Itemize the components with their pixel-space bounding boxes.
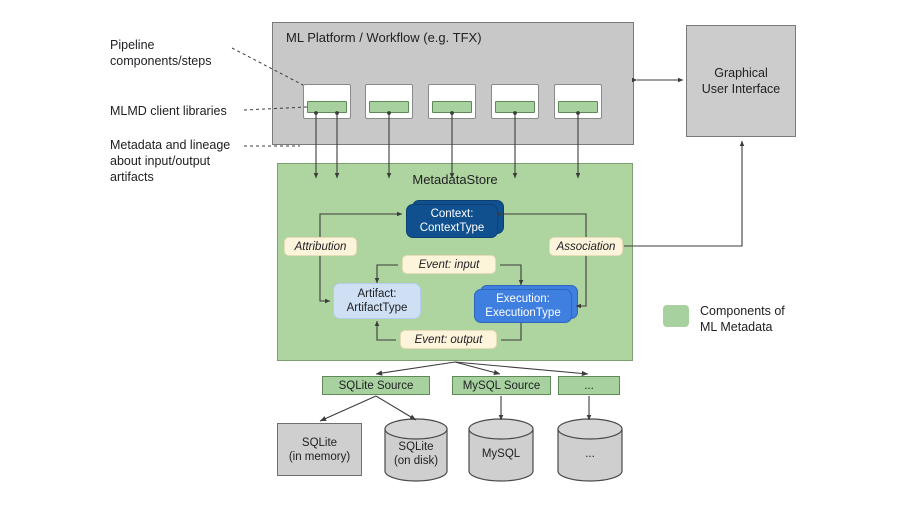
annotation-pipeline-components: Pipeline components/steps bbox=[110, 37, 270, 69]
event-output-tag[interactable]: Event: output bbox=[400, 330, 497, 349]
arrow-store-mysql-source bbox=[455, 362, 500, 374]
mlmd-client-library-2[interactable] bbox=[369, 101, 409, 113]
sqlite-source-box[interactable]: SQLite Source bbox=[322, 376, 430, 395]
mlmd-client-library-1[interactable] bbox=[307, 101, 347, 113]
arrow-sqlite-source-on-disk bbox=[376, 396, 416, 420]
mlmd-client-library-3[interactable] bbox=[432, 101, 472, 113]
sqlite-in-memory-label: SQLite (in memory) bbox=[289, 436, 350, 464]
artifact-node-label: Artifact: ArtifactType bbox=[347, 287, 408, 315]
context-node[interactable]: Context: ContextType bbox=[406, 204, 498, 238]
attribution-tag-label: Attribution bbox=[295, 241, 347, 253]
gui-label: Graphical User Interface bbox=[702, 65, 781, 97]
diagram-canvas: Pipeline components/steps MLMD client li… bbox=[0, 0, 900, 506]
other-db-label: ... bbox=[557, 447, 623, 461]
execution-node-label: Execution: ExecutionType bbox=[485, 292, 560, 320]
legend-swatch bbox=[663, 305, 689, 327]
mysql-source-box[interactable]: MySQL Source bbox=[452, 376, 551, 395]
event-input-tag-label: Event: input bbox=[419, 259, 480, 271]
annotation-mlmd-client-libraries: MLMD client libraries bbox=[110, 103, 280, 119]
mysql-label: MySQL bbox=[468, 447, 534, 461]
arrow-sqlite-source-in-memory bbox=[320, 396, 376, 421]
mysql-source-label: MySQL Source bbox=[463, 380, 541, 392]
legend-label: Components of ML Metadata bbox=[700, 303, 830, 335]
sqlite-on-disk-label: SQLite (on disk) bbox=[384, 440, 448, 468]
sqlite-on-disk-db[interactable]: SQLite (on disk) bbox=[384, 418, 448, 482]
ml-platform-title: ML Platform / Workflow (e.g. TFX) bbox=[286, 30, 482, 45]
mysql-db[interactable]: MySQL bbox=[468, 418, 534, 482]
other-source-box[interactable]: ... bbox=[558, 376, 620, 395]
attribution-tag[interactable]: Attribution bbox=[284, 237, 357, 256]
metadata-store-title: MetadataStore bbox=[277, 172, 633, 187]
other-source-label: ... bbox=[584, 380, 594, 392]
other-db[interactable]: ... bbox=[557, 418, 623, 482]
mlmd-client-library-4[interactable] bbox=[495, 101, 535, 113]
association-tag[interactable]: Association bbox=[549, 237, 623, 256]
context-node-label: Context: ContextType bbox=[420, 207, 485, 235]
mlmd-client-library-5[interactable] bbox=[558, 101, 598, 113]
execution-node[interactable]: Execution: ExecutionType bbox=[474, 289, 572, 323]
arrow-association-gui bbox=[624, 141, 742, 246]
sqlite-source-label: SQLite Source bbox=[339, 380, 414, 392]
arrow-store-other-source bbox=[455, 362, 588, 374]
graphical-user-interface-box[interactable]: Graphical User Interface bbox=[686, 25, 796, 137]
sqlite-in-memory-db[interactable]: SQLite (in memory) bbox=[277, 423, 362, 476]
event-input-tag[interactable]: Event: input bbox=[402, 255, 496, 274]
arrow-store-sqlite-source bbox=[376, 362, 455, 374]
event-output-tag-label: Event: output bbox=[415, 334, 483, 346]
association-tag-label: Association bbox=[557, 241, 616, 253]
artifact-node[interactable]: Artifact: ArtifactType bbox=[333, 283, 421, 319]
annotation-metadata-lineage: Metadata and lineage about input/output … bbox=[110, 137, 290, 185]
